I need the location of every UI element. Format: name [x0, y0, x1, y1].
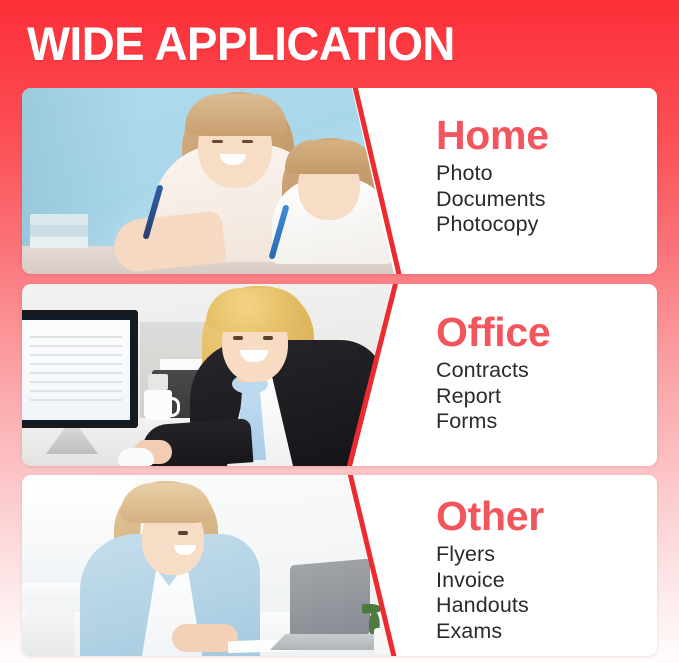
office-photo-pen-cup: [148, 374, 168, 390]
card-home-list: Photo Documents Photocopy: [436, 161, 657, 238]
home-photo-mother-fringe: [185, 94, 287, 136]
list-item: Forms: [436, 409, 657, 435]
card-office-list: Contracts Report Forms: [436, 358, 657, 435]
other-photo-laptop-base: [270, 634, 380, 650]
home-photo-girl-fringe: [285, 140, 373, 174]
list-item: Contracts: [436, 358, 657, 384]
list-item: Documents: [436, 187, 657, 213]
card-other-text-panel: Other Flyers Invoice Handouts Exams: [412, 475, 657, 656]
home-photo-books: [30, 214, 88, 248]
list-item: Invoice: [436, 568, 657, 594]
application-card-office[interactable]: Office Contracts Report Forms: [22, 284, 657, 466]
other-photo-chair: [22, 610, 74, 656]
card-office-text-panel: Office Contracts Report Forms: [412, 284, 657, 466]
office-photo-woman-eye-right: [263, 336, 273, 340]
application-card-home[interactable]: Home Photo Documents Photocopy: [22, 88, 657, 274]
list-item: Exams: [436, 619, 657, 645]
card-office-title: Office: [436, 309, 657, 355]
card-office-image: [22, 284, 422, 466]
card-other-image: [22, 475, 422, 656]
other-photo-woman-eye: [178, 531, 188, 535]
other-photo-woman-fringe: [120, 483, 212, 523]
list-item: Handouts: [436, 593, 657, 619]
other-photo-laptop-screen: [290, 559, 370, 642]
page-title: WIDE APPLICATION: [27, 16, 455, 72]
other-photo: [22, 475, 422, 656]
other-photo-glass-small: [392, 628, 410, 652]
list-item: Flyers: [436, 542, 657, 568]
card-other-title: Other: [436, 493, 657, 539]
card-home-image: [22, 88, 422, 274]
office-photo-monitor: [22, 310, 138, 428]
office-photo-mouse: [118, 448, 154, 466]
office-photo-mug: [144, 390, 172, 420]
card-other-list: Flyers Invoice Handouts Exams: [436, 542, 657, 644]
home-photo-mother-eye-left: [212, 140, 223, 143]
office-photo-woman-curls: [206, 288, 306, 332]
list-item: Report: [436, 384, 657, 410]
application-card-other[interactable]: Other Flyers Invoice Handouts Exams: [22, 475, 657, 656]
card-home-title: Home: [436, 112, 657, 158]
list-item: Photo: [436, 161, 657, 187]
office-photo: [22, 284, 422, 466]
list-item: Photocopy: [436, 212, 657, 238]
office-photo-monitor-screen: [22, 320, 130, 420]
home-photo: [22, 88, 422, 274]
office-photo-woman-eye-left: [233, 336, 243, 340]
office-photo-screen-text-lines: [30, 336, 122, 406]
card-home-text-panel: Home Photo Documents Photocopy: [412, 88, 657, 274]
home-photo-mother-eye-right: [242, 140, 253, 143]
